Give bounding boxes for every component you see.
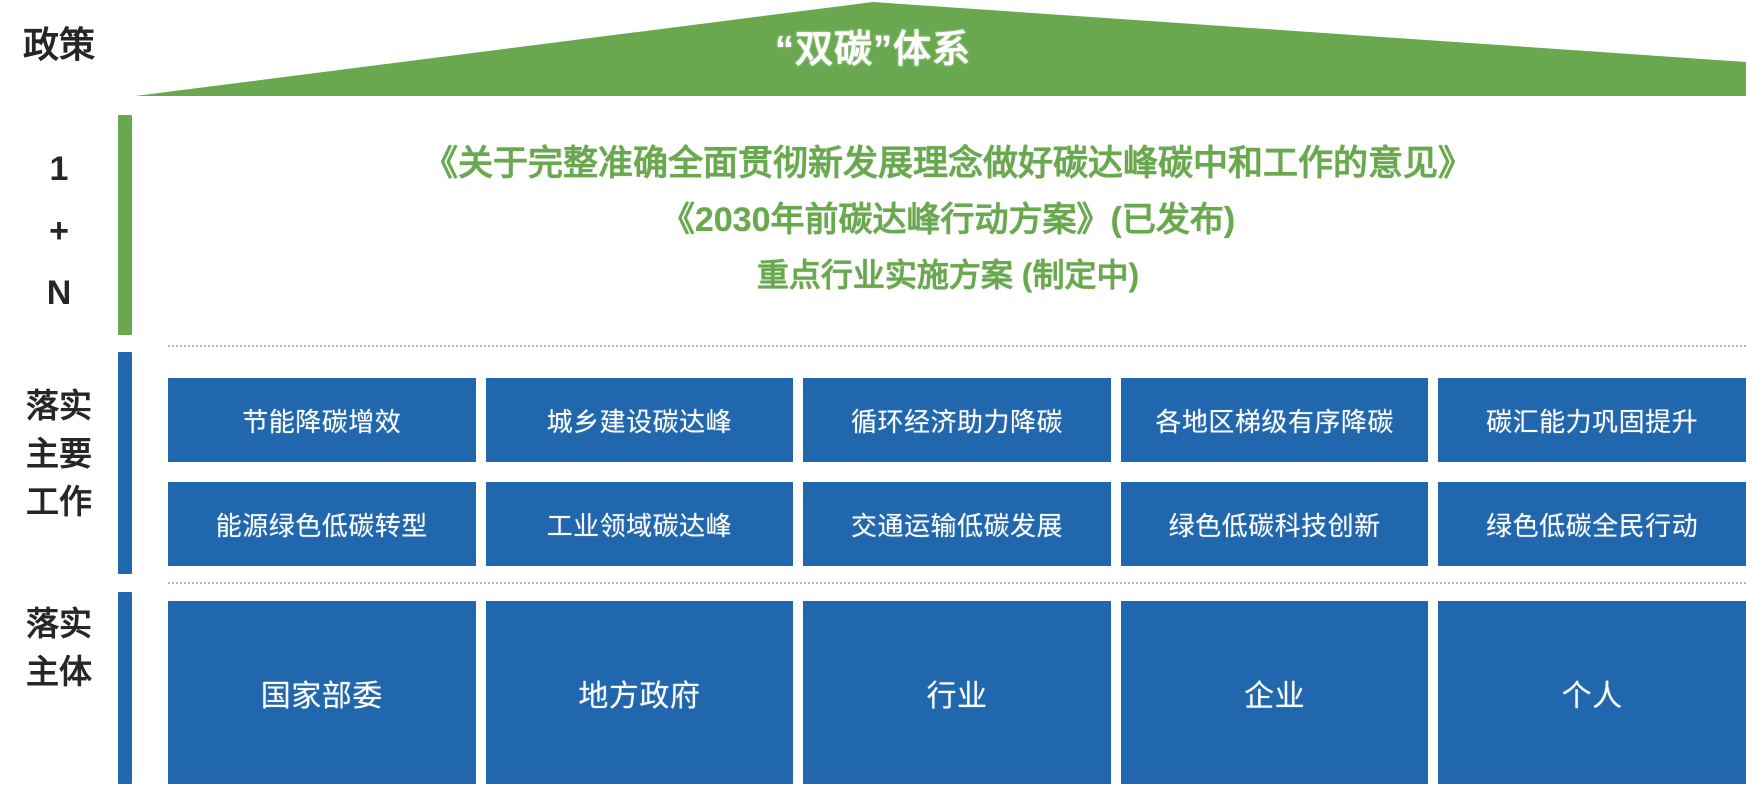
accent-bar-policy	[118, 115, 132, 335]
rail-label-one: 1	[0, 138, 118, 200]
policy-line-2: 《2030年前碳达峰行动方案》(已发布)	[150, 192, 1746, 248]
subject-box[interactable]: 国家部委	[168, 601, 476, 784]
rail-label-one-plus-n: 1 + N	[0, 138, 118, 324]
main-work-box[interactable]: 工业领域碳达峰	[486, 482, 794, 566]
subject-box[interactable]: 企业	[1121, 601, 1429, 784]
main-work-box[interactable]: 能源绿色低碳转型	[168, 482, 476, 566]
main-work-box[interactable]: 碳汇能力巩固提升	[1438, 378, 1746, 462]
main-work-box[interactable]: 交通运输低碳发展	[803, 482, 1111, 566]
rail-label-plus: +	[0, 200, 118, 262]
rail-label-subject-line-1: 落实	[0, 600, 118, 648]
main-work-box[interactable]: 城乡建设碳达峰	[486, 378, 794, 462]
rail-label-policy-line: 政策	[0, 24, 118, 66]
policy-line-3: 重点行业实施方案 (制定中)	[150, 248, 1746, 302]
rail-label-main-work: 落实 主要 工作	[0, 382, 118, 526]
subject-box[interactable]: 个人	[1438, 601, 1746, 784]
main-work-box[interactable]: 绿色低碳科技创新	[1121, 482, 1429, 566]
rail-label-n: N	[0, 262, 118, 324]
main-work-row-1: 节能降碳增效 城乡建设碳达峰 循环经济助力降碳 各地区梯级有序降碳 碳汇能力巩固…	[168, 378, 1746, 462]
divider-work-subject	[168, 582, 1746, 584]
rail-label-main-work-line-3: 工作	[0, 478, 118, 526]
rail-label-subject: 落实 主体	[0, 600, 118, 696]
main-work-box[interactable]: 循环经济助力降碳	[803, 378, 1111, 462]
diagram-canvas: “双碳”体系 政策 1 + N 落实 主要 工作 落实 主体 《关于完整准确全面…	[0, 0, 1746, 790]
roof-banner: “双碳”体系	[0, 0, 1746, 98]
rail-label-subject-line-2: 主体	[0, 648, 118, 696]
main-work-box[interactable]: 绿色低碳全民行动	[1438, 482, 1746, 566]
divider-policy-work	[168, 345, 1746, 347]
main-work-box[interactable]: 各地区梯级有序降碳	[1121, 378, 1429, 462]
subject-box[interactable]: 行业	[803, 601, 1111, 784]
subject-box[interactable]: 地方政府	[486, 601, 794, 784]
main-work-row-2: 能源绿色低碳转型 工业领域碳达峰 交通运输低碳发展 绿色低碳科技创新 绿色低碳全…	[168, 482, 1746, 566]
rail-label-main-work-line-2: 主要	[0, 430, 118, 478]
accent-bar-main-work	[118, 352, 132, 574]
policy-text-block: 《关于完整准确全面贯彻新发展理念做好碳达峰碳中和工作的意见》 《2030年前碳达…	[150, 136, 1746, 302]
policy-line-1: 《关于完整准确全面贯彻新发展理念做好碳达峰碳中和工作的意见》	[150, 136, 1746, 192]
accent-bar-subject	[118, 592, 132, 784]
rail-label-main-work-line-1: 落实	[0, 382, 118, 430]
rail-label-policy: 政策	[0, 24, 118, 66]
subject-row: 国家部委 地方政府 行业 企业 个人	[168, 601, 1746, 784]
roof-title: “双碳”体系	[0, 28, 1746, 72]
main-work-box[interactable]: 节能降碳增效	[168, 378, 476, 462]
